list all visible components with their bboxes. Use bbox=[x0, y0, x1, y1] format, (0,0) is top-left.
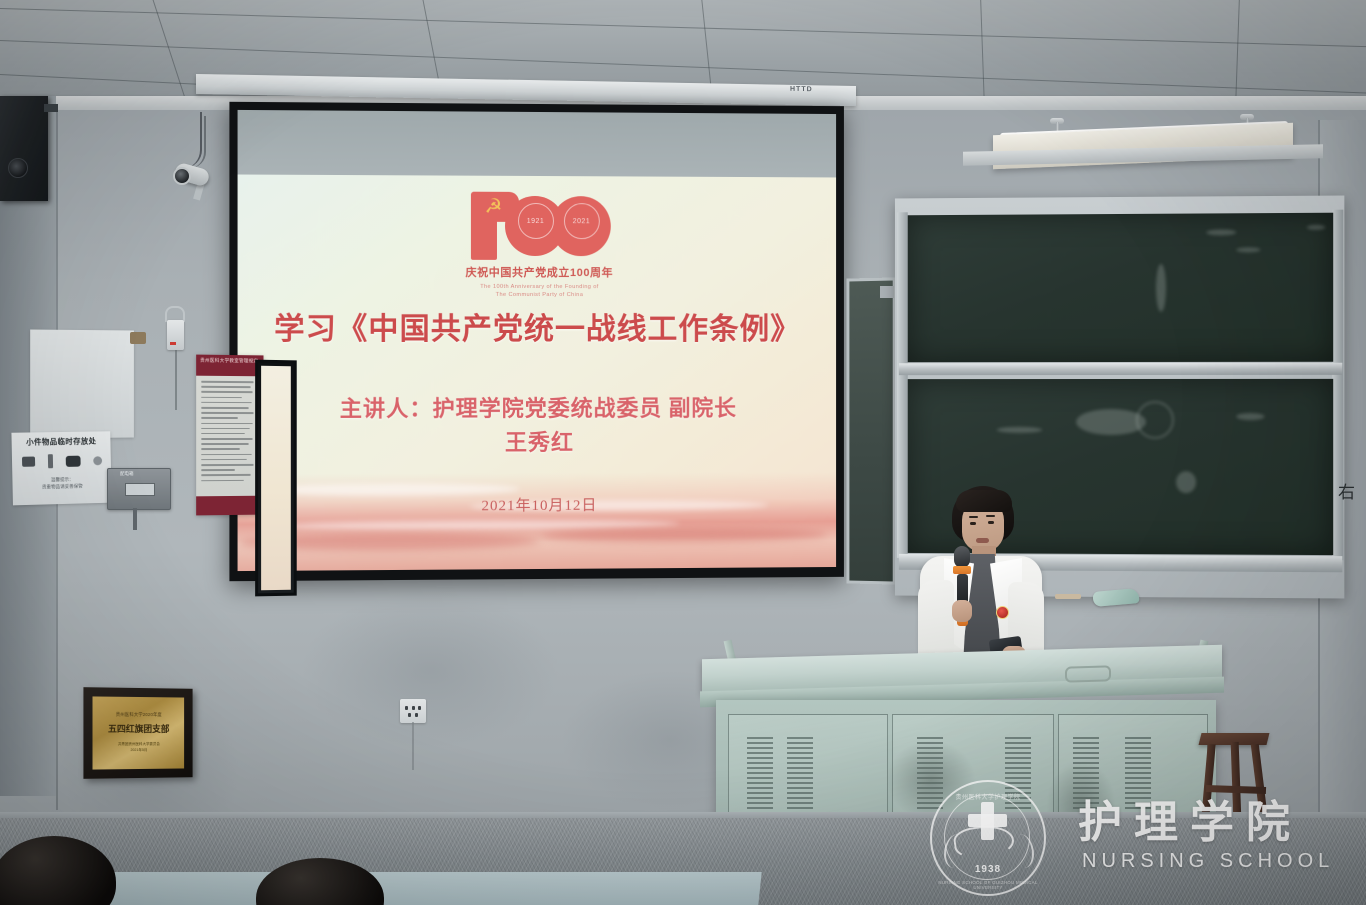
award-plaque-face: 贵州医科大学2020年度 五四红旗团支部 共青团贵州医科大学委员会 2021年5… bbox=[93, 696, 185, 769]
wallet-icon bbox=[21, 457, 34, 467]
award-plaque-footer: 共青团贵州医科大学委员会 2021年5月 bbox=[118, 742, 160, 754]
slide-presenter-line2: 王秀红 bbox=[238, 425, 837, 461]
electrical-panel-display bbox=[125, 483, 155, 496]
purse-icon bbox=[65, 455, 80, 466]
presentation-slide: 1921 2021 ☭ 庆祝中国共产党成立100周年 The 100th Ann… bbox=[238, 175, 837, 572]
award-plaque-top-text: 贵州医科大学2020年度 bbox=[116, 712, 162, 718]
presenter-hand-left bbox=[952, 600, 972, 622]
wall-switch-led-icon bbox=[170, 342, 176, 345]
blackboard-middle-rail bbox=[899, 363, 1342, 375]
blackboard-side-left bbox=[897, 212, 908, 558]
anniversary-logo: 1921 2021 ☭ 庆祝中国共产党成立100周年 The 100th Ann… bbox=[238, 189, 837, 301]
logo-caption-en-line2: The Communist Party of China bbox=[480, 291, 599, 300]
poster-storage-title: 小件物品临时存放处 bbox=[15, 435, 108, 448]
award-plaque-title: 五四红旗团支部 bbox=[108, 722, 169, 735]
framed-wall-board bbox=[255, 360, 297, 597]
screen-brand-label: HTTD bbox=[790, 86, 813, 93]
logo-100-mark: 1921 2021 ☭ bbox=[464, 190, 614, 263]
lectern-handle[interactable] bbox=[1065, 665, 1111, 682]
wall-cable bbox=[175, 350, 177, 410]
projection-screen: 1921 2021 ☭ 庆祝中国共产党成立100周年 The 100th Ann… bbox=[229, 102, 844, 581]
logo-year-right: 2021 bbox=[563, 203, 599, 239]
poster-storage-footer: 温馨提示： 贵重物品请妥善保管 bbox=[15, 476, 108, 492]
microphone-band bbox=[953, 566, 971, 574]
slide-date: 2021年10月12日 bbox=[238, 493, 837, 517]
logo-caption-en-line1: The 100th Anniversary of the Founding of bbox=[480, 283, 599, 292]
screen-surface: 1921 2021 ☭ 庆祝中国共产党成立100周年 The 100th Ann… bbox=[238, 110, 837, 571]
screen-unused-area bbox=[238, 110, 837, 178]
key-icon bbox=[93, 456, 102, 465]
poster-storage-footer-line2: 贵重物品请妥善保管 bbox=[16, 483, 109, 492]
slide-presenter: 主讲人：护理学院党委统战委员 副院长 王秀红 bbox=[238, 392, 837, 462]
wall-paper-blank bbox=[30, 330, 134, 439]
speaker-bracket bbox=[44, 104, 58, 112]
poster-storage-icons bbox=[15, 453, 108, 469]
electrical-panel-stem bbox=[133, 508, 137, 530]
presenter-mouth bbox=[976, 538, 989, 543]
poster-regulation-text bbox=[201, 381, 258, 485]
logo-year-left: 1921 bbox=[518, 203, 554, 239]
electrical-panel-label: 配电箱 bbox=[120, 471, 134, 477]
floor-step-band bbox=[58, 872, 761, 905]
slide-presenter-line1: 主讲人：护理学院党委统战委员 副院长 bbox=[238, 392, 837, 427]
electrical-panel: 配电箱 bbox=[107, 468, 171, 510]
power-outlet bbox=[400, 699, 426, 723]
logo-caption-cn: 庆祝中国共产党成立100周年 bbox=[466, 264, 614, 280]
right-wall-label: 右 bbox=[1338, 478, 1355, 503]
chalk-stick bbox=[1055, 594, 1081, 599]
classroom-photo: HTTD 1921 bbox=[0, 0, 1366, 905]
camera-lens-icon bbox=[173, 167, 191, 185]
speaker-cone-icon bbox=[8, 158, 28, 178]
blackboard-panel-top bbox=[908, 213, 1333, 363]
pen-icon bbox=[47, 454, 52, 468]
framed-wall-board-inner bbox=[261, 366, 291, 591]
microphone-head bbox=[954, 546, 970, 568]
wall-side-panel bbox=[846, 277, 895, 584]
hammer-and-sickle-icon: ☭ bbox=[480, 196, 506, 220]
wall-switch[interactable] bbox=[167, 320, 184, 350]
poster-classroom-regulation: 贵州医科大学教室管理规定 bbox=[196, 355, 263, 516]
logo-caption-en: The 100th Anniversary of the Founding of… bbox=[480, 283, 599, 300]
camera-wire-2 bbox=[186, 116, 206, 168]
blackboard-side-right bbox=[1332, 210, 1343, 561]
outlet-cord bbox=[412, 722, 414, 770]
award-plaque: 贵州医科大学2020年度 五四红旗团支部 共青团贵州医科大学委员会 2021年5… bbox=[83, 687, 192, 779]
poster-storage-notice: 小件物品临时存放处 温馨提示： 贵重物品请妥善保管 bbox=[11, 431, 111, 505]
party-emblem-pin-icon bbox=[996, 606, 1009, 619]
wall-mount-block bbox=[130, 332, 146, 344]
poster-regulation-header: 贵州医科大学教室管理规定 bbox=[196, 355, 263, 368]
slide-title: 学习《中国共产党统一战线工作条例》 bbox=[238, 304, 837, 348]
wall-speaker bbox=[0, 96, 48, 201]
award-plaque-footer-line2: 2021年5月 bbox=[118, 748, 160, 754]
presenter-fringe bbox=[956, 490, 1012, 512]
side-panel-bracket bbox=[880, 286, 894, 298]
